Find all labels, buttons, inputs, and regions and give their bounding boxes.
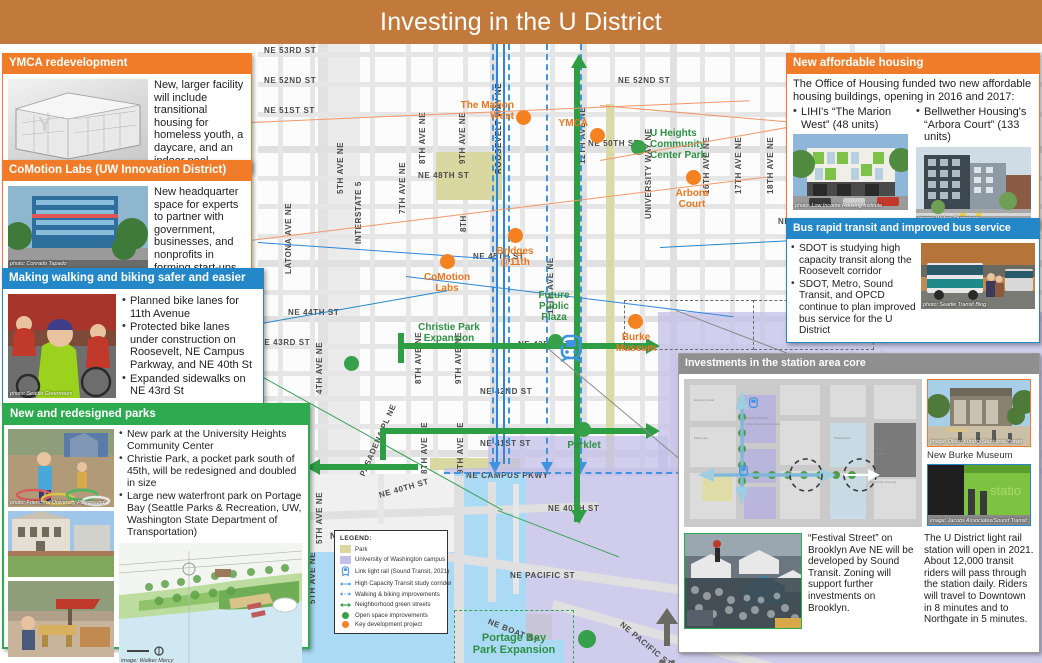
marker-label-arbora-court: ArboraCourt <box>656 188 728 210</box>
orange-dot-icon <box>340 621 351 628</box>
legend-item-green-streets: Neighborhood green streets <box>340 601 442 609</box>
svg-text:To corridor crossing: To corridor crossing <box>870 480 897 484</box>
legend-item-walk-bike: Walking & biking improvements <box>340 590 442 598</box>
street-label: 17TH AVE NE <box>734 137 743 194</box>
street-label: NE 53RD ST <box>264 46 316 55</box>
street-label: 7TH AVE NE <box>398 162 407 214</box>
bullet-item: SDOT, Metro, Sound Transit, and OPCD con… <box>791 279 916 337</box>
burke-museum-label: New Burke Museum <box>927 450 1031 461</box>
marker-marion-west[interactable] <box>516 110 531 125</box>
plaza-photo <box>8 581 114 657</box>
infographic-root: Investing in the U District <box>0 0 1042 663</box>
photo-caption: photo: Low Income Housing Institute <box>795 203 882 209</box>
u-heights-photo <box>8 511 114 577</box>
panel-body: photo: Conrado Tapado New headquarter sp… <box>3 181 251 279</box>
station-core-bottom-row: photo: sea turtle, via Flickr “Festival … <box>684 533 1034 629</box>
panel-body: photo: Friends of University Playground <box>4 425 308 663</box>
panel-header: CoMotion Labs (UW Innovation District) <box>3 161 251 181</box>
marker-label-parklet: Parklet <box>556 440 612 451</box>
station-core-right-images: image: Olson Kundig/Stephanie Bower New … <box>927 379 1031 527</box>
bullet-item: New park at the University Heights Commu… <box>119 429 304 453</box>
green-street-arrow-up <box>571 54 587 68</box>
photo-arbora-court: image: Weber Thompson <box>916 147 1031 223</box>
legend-label: Open space improvements <box>355 612 442 619</box>
legend-item-uw-campus: University of Washington campus <box>340 556 442 564</box>
bullet-item: Protected bike lanes under construction … <box>122 321 258 371</box>
housing-item-marion-west: LIHI's “The Marion West” (48 units) <box>793 106 910 223</box>
bullet-item: Large new waterfront park on Portage Bay… <box>119 491 304 539</box>
walkbike-bullet-list: Planned bike lanes for 11th Avenue Prote… <box>122 295 258 399</box>
legend-label: Park <box>355 546 442 553</box>
panel-comotion-labs[interactable]: CoMotion Labs (UW Innovation District) p… <box>2 160 252 280</box>
panel-bus-rapid-transit[interactable]: Bus rapid transit and improved bus servi… <box>786 218 1040 343</box>
site-plan-drawing <box>119 543 302 663</box>
panel-header: Investments in the station area core <box>679 354 1039 374</box>
legend-label: Key development project <box>355 621 442 628</box>
photo-caption: photo: Seattle Transit Blog <box>923 302 986 308</box>
festival-street-text: “Festival Street” on Brooklyn Ave NE wil… <box>808 533 918 629</box>
station-core-top-row: Housing / retailMixed use Brooklyn Stati… <box>684 379 1034 527</box>
parks-photo-column: photo: Friends of University Playground <box>8 429 114 657</box>
marker-parklet[interactable] <box>576 422 591 437</box>
svg-text:Burke: Burke <box>876 447 884 451</box>
photo-caption: photo: Seattle Greenways <box>10 391 72 397</box>
marker-burke-museum[interactable] <box>628 314 643 329</box>
bullet-item: Christie Park, a pocket park south of 45… <box>119 454 304 490</box>
svg-text:New: New <box>876 442 883 446</box>
light-rail-icon <box>340 566 351 577</box>
green-dot-icon <box>340 612 351 619</box>
panel-station-area-core[interactable]: Investments in the station area core <box>678 353 1040 653</box>
photo-caption: photo: Friends of University Playground <box>10 500 104 506</box>
arbora-court-photo <box>916 147 1031 223</box>
panel-body: Housing / retailMixed use Brooklyn Stati… <box>679 374 1039 634</box>
photo-light-rail-station: statio image: Jacobs Associates/Sound Tr… <box>927 464 1031 526</box>
legend-label: Link light rail (Sound Transit, 2021) <box>355 568 449 575</box>
marker-label-bridges: Bridges@11th <box>478 246 552 268</box>
bike-photo <box>8 294 116 398</box>
photo-portage-bay-site-plan: image: Walker Mercy <box>119 543 302 663</box>
panel-parks[interactable]: New and redesigned parks <box>2 403 310 649</box>
svg-text:Y: Y <box>38 114 52 136</box>
photo-u-heights-center <box>8 511 114 577</box>
burke-museum-rendering <box>928 380 1031 447</box>
photo-bus: photo: Seattle Transit Blog <box>921 243 1035 309</box>
street-label: NE 43RD ST <box>258 338 310 347</box>
svg-text:Housing / retail: Housing / retail <box>694 398 714 402</box>
parks-content-column: New park at the University Heights Commu… <box>119 429 304 663</box>
parks-bullet-list: New park at the University Heights Commu… <box>119 429 304 540</box>
legend-label: Neighborhood green streets <box>355 601 442 608</box>
legend-label: University of Washington campus <box>355 556 445 563</box>
svg-text:statio: statio <box>990 483 1021 498</box>
photo-caption: image: Olson Kundig/Stephanie Bower <box>930 439 1023 445</box>
photo-comotion-building: photo: Conrado Tapado <box>8 186 148 268</box>
marker-label-christie-park: Christie ParkExpansion <box>404 322 494 344</box>
bullet-item: Expanded sidewalks on NE 43rd St <box>122 373 258 398</box>
panel-header: Making walking and biking safer and easi… <box>3 269 263 289</box>
portage-bay-park-boundary <box>454 610 574 663</box>
photo-plaza <box>8 581 114 657</box>
aerial-plan: Housing / retailMixed use Brooklyn Stati… <box>684 379 922 527</box>
festival-street-photo <box>685 534 802 629</box>
housing-intro-text: The Office of Housing funded two new aff… <box>793 78 1033 103</box>
photo-caption: image: Walker Mercy <box>121 658 173 663</box>
panel-body: Y New, larger facility will include tran… <box>3 74 251 172</box>
photo-playground: photo: Friends of University Playground <box>8 429 114 507</box>
marion-west-photo <box>793 134 908 210</box>
panel-header: New and redesigned parks <box>4 405 308 425</box>
photo-aerial-station-plan: Housing / retailMixed use Brooklyn Stati… <box>684 379 922 527</box>
marker-christie-park[interactable] <box>344 356 359 371</box>
panel-body: The Office of Housing funded two new aff… <box>787 74 1039 228</box>
street-label: 8TH <box>459 215 468 232</box>
street-label: INTERSTATE 5 <box>354 181 363 244</box>
panel-body: photo: Seattle Greenways Planned bike la… <box>3 289 263 404</box>
green-street-link <box>412 464 418 470</box>
svg-text:Streetscape: Streetscape <box>834 436 850 440</box>
street-label: 4TH AVE NE <box>315 342 324 394</box>
legend-item-light-rail: Link light rail (Sound Transit, 2021) <box>340 566 442 577</box>
green-street-arrow-down <box>571 510 587 524</box>
marker-bridges-11th[interactable] <box>508 228 523 243</box>
housing-item-arbora-court: Bellwether Housing's “Arbora Court” (133… <box>916 106 1033 223</box>
legend-item-park: Park <box>340 545 442 553</box>
map-legend: LEGEND: Park University of Washington ca… <box>334 530 448 634</box>
ymca-building-sketch: Y <box>8 79 148 165</box>
map-road-v <box>488 482 496 602</box>
brt-bullet-list: SDOT is studying high capacity transit a… <box>791 243 916 338</box>
street-label: NE 41ST ST <box>480 439 531 448</box>
street-label: 5TH AVE NE <box>336 142 345 194</box>
bullet-item: LIHI's “The Marion West” (48 units) <box>793 106 910 131</box>
marker-comotion-labs[interactable] <box>440 254 455 269</box>
street-label: NE 51ST ST <box>264 106 315 115</box>
green-street-42nd-west <box>318 464 418 470</box>
panel-header: Bus rapid transit and improved bus servi… <box>787 219 1039 239</box>
photo-festival-street: photo: sea turtle, via Flickr <box>684 533 802 629</box>
housing-items: LIHI's “The Marion West” (48 units) <box>793 106 1033 223</box>
panel-header: YMCA redevelopment <box>3 54 251 74</box>
blue-double-arrow-icon <box>340 580 351 588</box>
blue-dashed-arrow-icon <box>340 590 351 598</box>
legend-item-key-development: Key development project <box>340 621 442 628</box>
svg-text:Civic street improvements: Civic street improvements <box>746 422 781 426</box>
playground-photo <box>8 429 114 507</box>
legend-item-hct: High Capacity Transit study corridor <box>340 580 442 588</box>
bullet-item: Planned bike lanes for 11th Avenue <box>122 295 258 320</box>
bullet-item: Bellwether Housing's “Arbora Court” (133… <box>916 106 1033 144</box>
photo-ymca-rendering: Y <box>8 79 148 165</box>
green-street-42nd <box>380 428 648 434</box>
marker-portage-bay-park[interactable] <box>578 630 596 648</box>
street-label: LATONA AVE NE <box>284 203 293 274</box>
panel-text: New headquarter space for experts to par… <box>154 186 246 274</box>
photo-marion-west: photo: Low Income Housing Institute <box>793 134 908 210</box>
legend-label: Walking & biking improvements <box>355 591 442 598</box>
marker-ymca[interactable] <box>590 128 605 143</box>
panel-ymca[interactable]: YMCA redevelopment Y New, larger facilit <box>2 53 252 173</box>
marker-label-ymca: YMCA <box>536 118 588 129</box>
street-label: NE 48TH ST <box>418 171 469 180</box>
bus-photo <box>921 243 1035 309</box>
street-label: NE 42ND ST <box>480 387 532 396</box>
photo-caption: image: Jacobs Associates/Sound Transit <box>930 518 1027 524</box>
street-label: NE PACIFIC ST <box>510 571 575 580</box>
panel-text: New, larger facility will include transi… <box>154 79 246 167</box>
uw-swatch <box>340 556 351 564</box>
comotion-building-photo <box>8 186 148 268</box>
panel-body: SDOT is studying high capacity transit a… <box>787 239 1039 342</box>
street-label: NE 52ND ST <box>264 76 316 85</box>
marker-future-public-plaza[interactable] <box>548 334 563 349</box>
photo-new-burke-museum: image: Olson Kundig/Stephanie Bower <box>927 379 1031 447</box>
street-label: NE 52ND ST <box>618 76 670 85</box>
map-road-v <box>370 44 375 474</box>
compass-letter: N <box>650 657 684 663</box>
station-text: The U District light rail station will o… <box>924 533 1034 629</box>
marker-label-burke-museum: BurkeMuseum <box>600 332 672 354</box>
photo-caption: photo: Conrado Tapado <box>10 261 66 267</box>
street-label: NE 44TH ST <box>288 308 339 317</box>
bullet-item: SDOT is studying high capacity transit a… <box>791 243 916 278</box>
photo-bike-helmet-kids: photo: Seattle Greenways <box>8 294 116 398</box>
street-label: 5TH AVE NE <box>315 492 324 544</box>
legend-item-open-space: Open space improvements <box>340 612 442 619</box>
green-double-arrow-icon <box>340 601 351 609</box>
svg-text:Brooklyn Station: Brooklyn Station <box>746 416 768 420</box>
festival-photo-wrap: photo: sea turtle, via Flickr <box>684 533 802 629</box>
station-rendering: statio <box>928 465 1031 526</box>
page-title-text: Investing in the U District <box>380 8 662 37</box>
panel-affordable-housing[interactable]: New affordable housing The Office of Hou… <box>786 53 1040 229</box>
svg-text:Museum: Museum <box>876 452 888 456</box>
map-interstate-5 <box>324 44 360 474</box>
page-title: Investing in the U District <box>0 0 1042 44</box>
park-swatch <box>340 545 351 553</box>
legend-title: LEGEND: <box>340 535 442 542</box>
street-label: 18TH AVE NE <box>766 137 775 194</box>
map-road-v <box>406 44 411 474</box>
panel-header: New affordable housing <box>787 54 1039 74</box>
marker-arbora-court[interactable] <box>686 170 701 185</box>
svg-text:Mixed use: Mixed use <box>694 436 708 440</box>
legend-label: High Capacity Transit study corridor <box>355 580 452 587</box>
panel-walking-biking[interactable]: Making walking and biking safer and easi… <box>2 268 264 405</box>
marker-label-future-plaza: FuturePublicPlaza <box>518 290 590 323</box>
